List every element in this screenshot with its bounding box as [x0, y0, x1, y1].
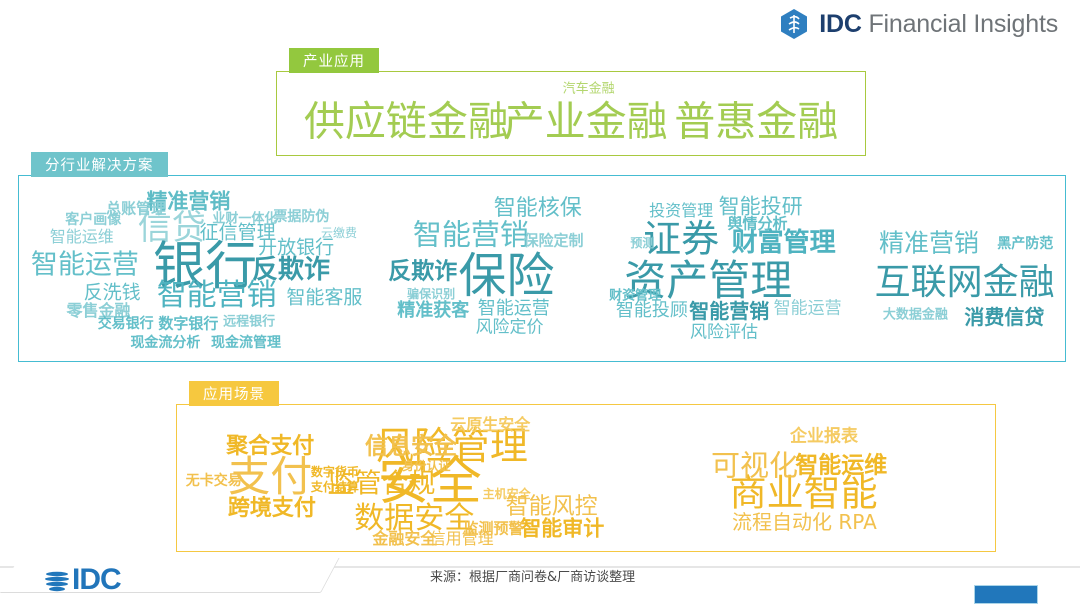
wordcloud-term: 票据防伪: [273, 210, 329, 224]
wordcloud-term: 反欺诈: [252, 257, 330, 283]
section-tab-application-scenarios: 应用场景: [189, 381, 279, 406]
wordcloud-term: 业财一体化: [212, 212, 277, 225]
source-note: 来源：根据厂商问卷&厂商访谈整理: [430, 566, 635, 585]
wordcloud-term: 智能投顾: [616, 302, 688, 320]
wordcloud-term: 征信管理: [200, 224, 276, 243]
wordcloud-term: 数字银行: [158, 317, 218, 332]
footer-logo-text: IDC: [72, 563, 121, 597]
wordcloud-term: 汽车金融: [563, 82, 615, 95]
wordcloud-term: 风险定价: [476, 319, 544, 336]
wordcloud-term: 普惠金融: [674, 101, 838, 142]
brand-idc-text: IDC: [819, 10, 861, 38]
section-industry-application: 产业应用 供应链金融产业金融普惠金融汽车金融: [276, 71, 866, 156]
section-application-scenarios: 应用场景 安全风险管理支付数据安全监管合规商业智能可视化智能运维企业报表流程自动…: [176, 404, 996, 552]
wordcloud-term: 精准获客: [397, 302, 469, 320]
page-header: IDC Financial Insights: [0, 0, 1080, 46]
wordcloud-term: 保险: [458, 252, 554, 300]
wordcloud-term: 智能审计: [520, 519, 604, 540]
wordcloud-term: 可视化: [711, 452, 798, 481]
brand-wordmark: IDC Financial Insights: [819, 10, 1058, 39]
idc-hexagon-logo-icon: [779, 8, 809, 40]
wordcloud-term: 云缴费: [321, 227, 357, 239]
wordcloud-term: 反洗钱: [84, 283, 141, 302]
wordcloud-term: 流程自动化 RPA: [732, 512, 877, 532]
wordcloud-term: 智能运营: [774, 301, 842, 318]
section-tab-industry-application: 产业应用: [289, 48, 379, 73]
wordcloud-term: 保险定制: [523, 233, 583, 248]
wordcloud-term: 身份认证: [402, 460, 450, 472]
wordcloud-term: 客户画像: [65, 213, 121, 227]
wordcloud-term: 智能核保: [494, 198, 582, 220]
wordcloud-term: 信息安全: [365, 436, 457, 459]
wordcloud-term: 金融安全: [372, 531, 436, 547]
wordcloud-term: 投资管理: [649, 203, 713, 219]
wordcloud-term: 现金流分析: [130, 336, 200, 350]
wordcloud-term: 智能运营: [31, 251, 139, 278]
section-industry-solutions: 分行业解决方案 银行信贷智能运营智能营销反欺诈智能客服反洗钱零售金融开放银行征信…: [18, 175, 1066, 362]
wordcloud-term: 智能营销: [157, 281, 277, 311]
wordcloud-term: 数字货币: [311, 466, 359, 478]
wordcloud-industry-application: 供应链金融产业金融普惠金融汽车金融: [277, 72, 865, 155]
brand-suffix-text: Financial Insights: [868, 10, 1058, 38]
wordcloud-term: 证券: [643, 220, 719, 258]
wordcloud-term: 风险评估: [690, 325, 758, 342]
wordcloud-term: 智能客服: [286, 289, 362, 308]
wordcloud-term: 骗保识别: [407, 288, 455, 300]
section-tab-industry-solutions: 分行业解决方案: [31, 152, 168, 177]
wordcloud-term: 舆情分析: [727, 217, 787, 232]
wordcloud-term: 智能运营: [478, 300, 550, 318]
wordcloud-application-scenarios: 安全风险管理支付数据安全监管合规商业智能可视化智能运维企业报表流程自动化 RPA…: [177, 405, 995, 551]
wordcloud-term: 互联网金融: [875, 265, 1055, 301]
wordcloud-term: 支付结算: [311, 481, 359, 493]
wordcloud-term: 反欺诈: [388, 261, 457, 284]
wordcloud-term: 远程银行: [223, 316, 275, 329]
wordcloud-term: 智能营销: [413, 221, 529, 250]
wordcloud-term: 无卡交易: [186, 474, 242, 488]
wordcloud-term: 消费信贷: [964, 307, 1044, 327]
wordcloud-term: 企业报表: [790, 429, 858, 446]
wordcloud-term: 智能风控: [506, 496, 598, 519]
wordcloud-term: 预测: [630, 237, 654, 249]
wordcloud-term: 财资管理: [609, 290, 661, 303]
wordcloud-term: 智能运维: [795, 455, 887, 478]
wordcloud-term: 智能营销: [689, 301, 769, 321]
idc-logo-icon: [44, 565, 70, 595]
wordcloud-term: 交易银行: [98, 317, 154, 331]
wordcloud-term: 大数据金融: [883, 308, 948, 321]
wordcloud-term: 精准营销: [879, 230, 979, 255]
brand-logo: IDC Financial Insights: [779, 8, 1058, 40]
wordcloud-term: 信用管理: [430, 531, 494, 547]
footer-idc-logo: IDC: [44, 563, 121, 597]
wordcloud-term: 现金流管理: [211, 336, 281, 350]
wordcloud-term: 供应链金融: [304, 101, 509, 142]
page-number-chip: [974, 585, 1038, 604]
wordcloud-term: 云原生安全: [450, 417, 530, 433]
wordcloud-term: 黑产防范: [997, 237, 1053, 251]
wordcloud-term: 智能运维: [50, 229, 114, 245]
wordcloud-industry-solutions: 银行信贷智能运营智能营销反欺诈智能客服反洗钱零售金融开放银行征信管理精准营销总账…: [19, 176, 1065, 361]
wordcloud-term: 跨境支付: [228, 498, 316, 520]
wordcloud-term: 财富管理: [732, 230, 836, 256]
wordcloud-term: 聚合支付: [226, 436, 314, 458]
wordcloud-term: 产业金融: [504, 101, 668, 142]
